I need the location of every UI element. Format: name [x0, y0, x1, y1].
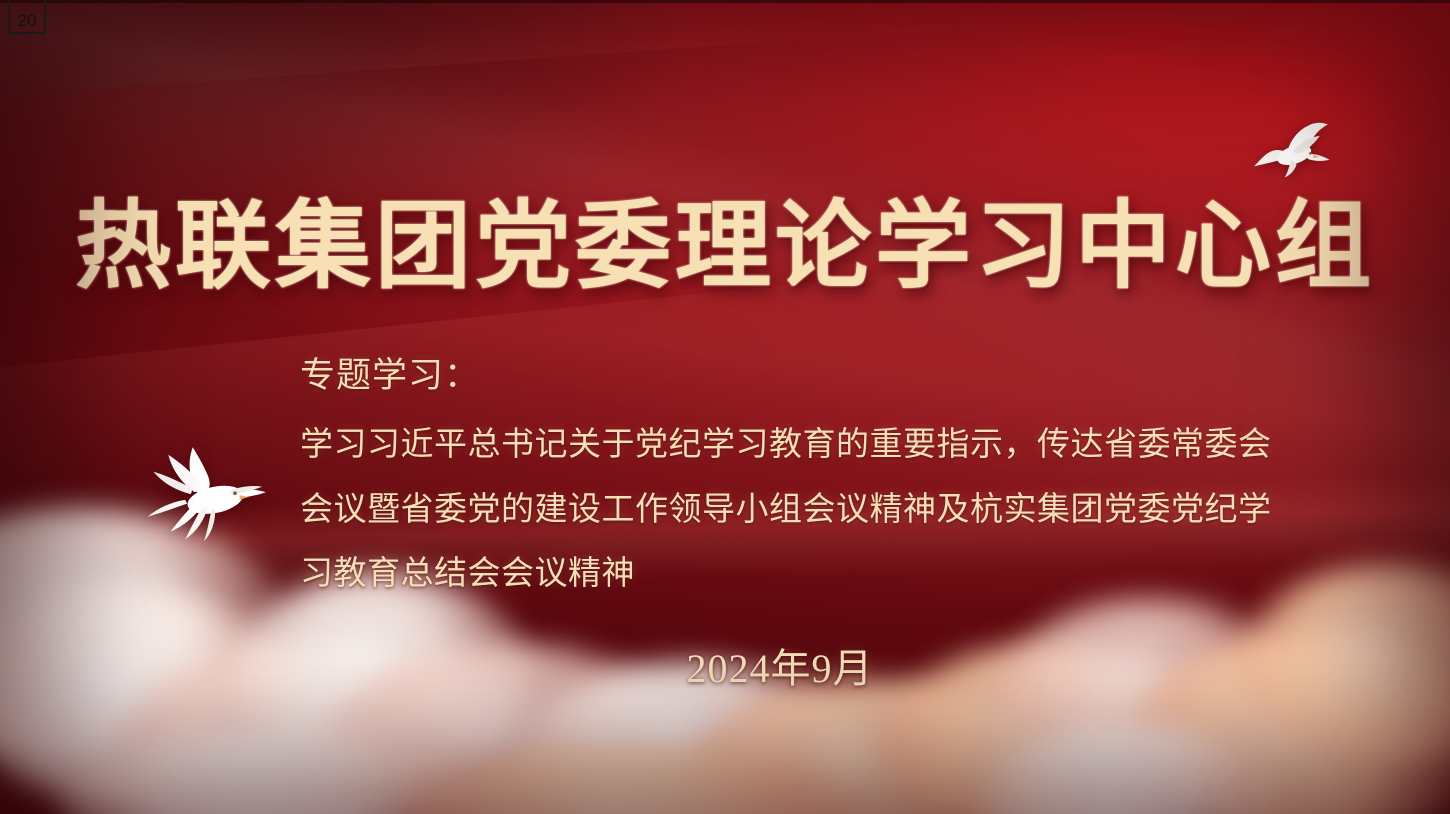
body-text-block: 专题学习： 学习习近平总书记关于党纪学习教育的重要指示，传达省委常委会 会议暨省…: [300, 352, 1260, 606]
top-edge-hairline: [0, 0, 1450, 3]
page-number-marker[interactable]: 20: [8, 0, 46, 34]
presentation-slide: 热联集团党委理论学习中心组 专题学习： 学习习近平总书记关于党纪学习教育的重要指…: [0, 0, 1450, 814]
body-line: 学习习近平总书记关于党纪学习教育的重要指示，传达省委常委会: [300, 413, 1260, 477]
body-line: 会议暨省委党的建设工作领导小组会议精神及杭实集团党委党纪学: [300, 478, 1260, 542]
subject-label: 专题学习：: [300, 352, 1260, 399]
body-line: 习教育总结会会议精神: [300, 542, 1260, 606]
page-title: 热联集团党委理论学习中心组: [0, 196, 1450, 297]
date-text: 2024年9月: [300, 636, 1260, 694]
